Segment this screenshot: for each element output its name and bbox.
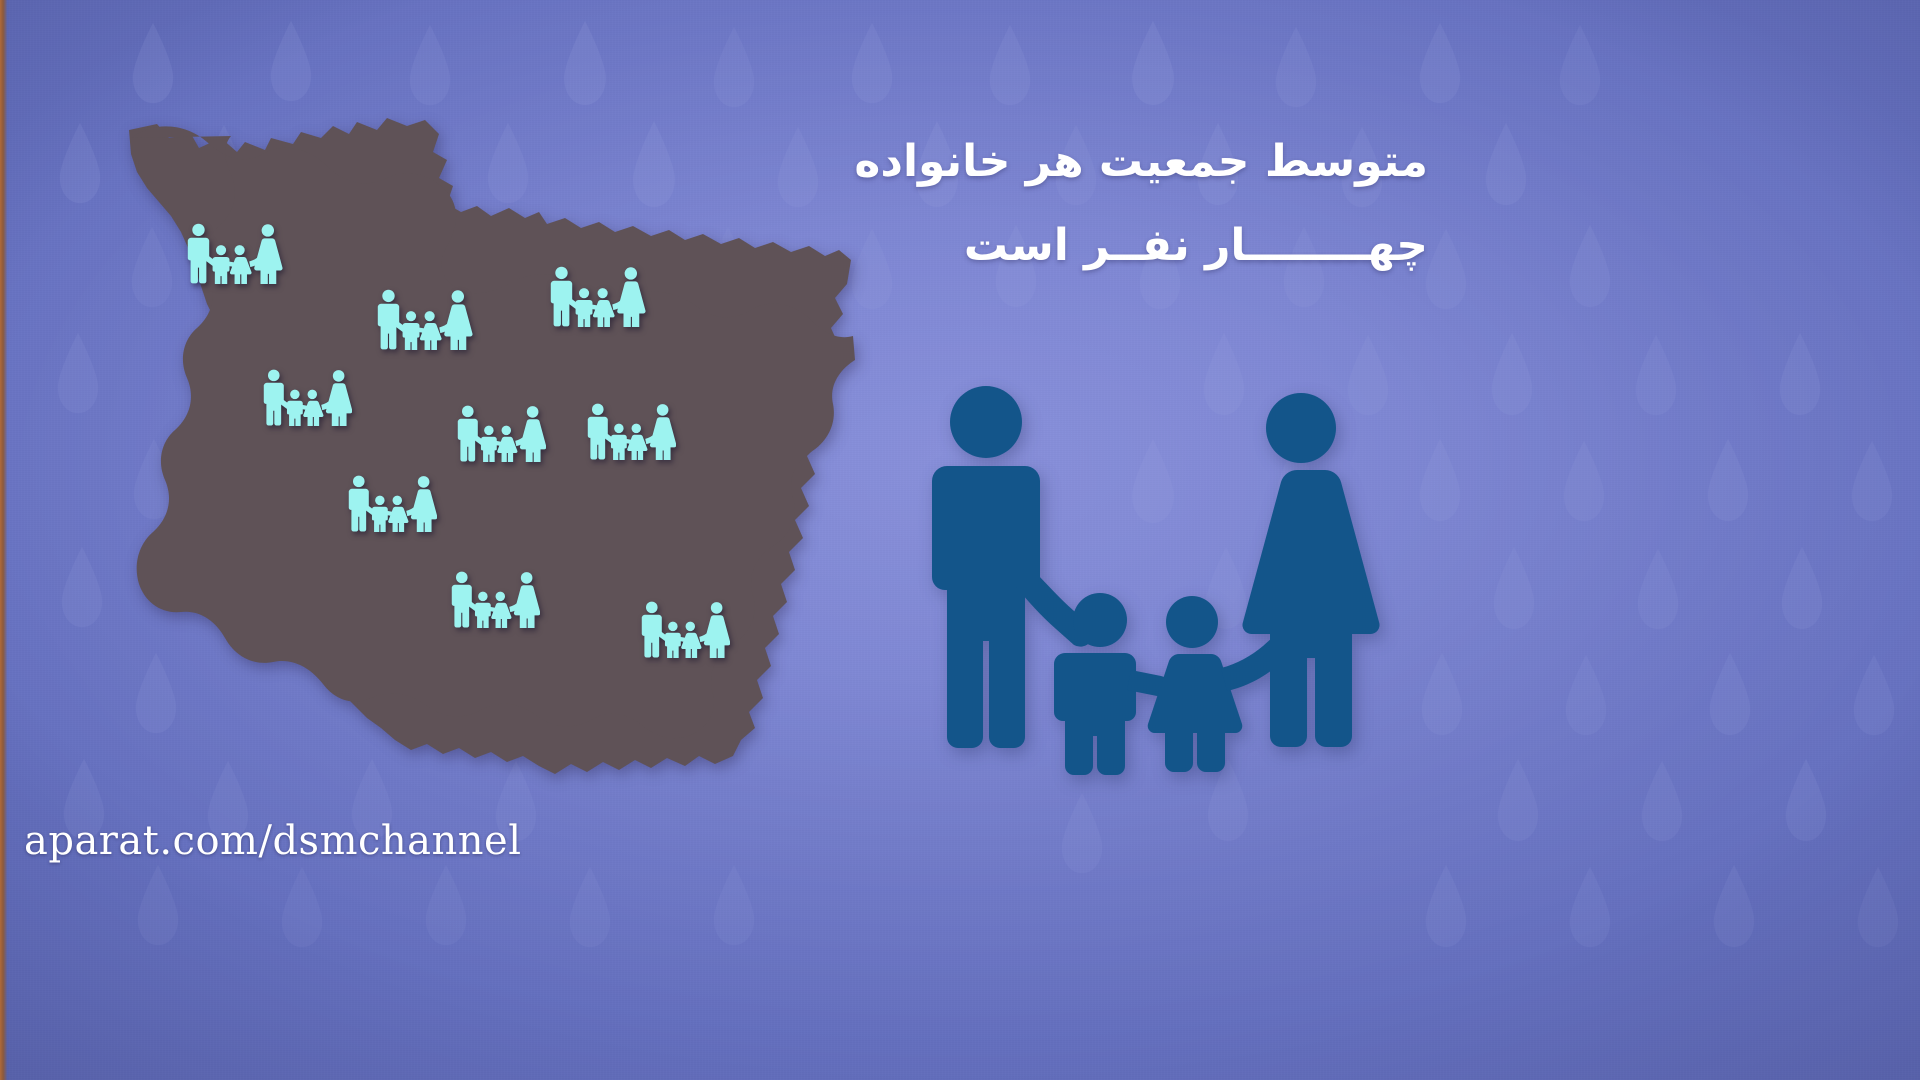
mini-family-4 bbox=[262, 368, 352, 426]
father-head bbox=[950, 386, 1022, 458]
mini-family-1 bbox=[185, 222, 283, 284]
daughter-head bbox=[1166, 596, 1218, 648]
headline-line-2: چهــــــــار نفــر است bbox=[854, 224, 1428, 268]
mini-family-6 bbox=[586, 402, 676, 460]
father-body bbox=[932, 466, 1040, 748]
mother-body bbox=[1242, 470, 1379, 747]
mini-family-9 bbox=[640, 600, 730, 658]
mini-family-3 bbox=[548, 265, 646, 327]
mini-family-5 bbox=[456, 404, 546, 462]
infographic-canvas: متوسط جمعیت هر خانواده چهــــــــار نفــ… bbox=[0, 0, 1920, 1080]
mini-family-2 bbox=[375, 288, 473, 350]
mini-family-7 bbox=[347, 474, 437, 532]
mother-head bbox=[1266, 393, 1336, 463]
headline-block: متوسط جمعیت هر خانواده چهــــــــار نفــ… bbox=[854, 140, 1428, 268]
headline-line-1: متوسط جمعیت هر خانواده bbox=[854, 140, 1428, 184]
mini-family-8 bbox=[450, 570, 540, 628]
son-body bbox=[1054, 653, 1136, 775]
family-of-four-illustration bbox=[885, 378, 1415, 778]
left-edge-accent-stripe bbox=[0, 0, 7, 1080]
channel-watermark: aparat.com/dsmchannel bbox=[24, 818, 522, 864]
son-head bbox=[1073, 593, 1127, 647]
